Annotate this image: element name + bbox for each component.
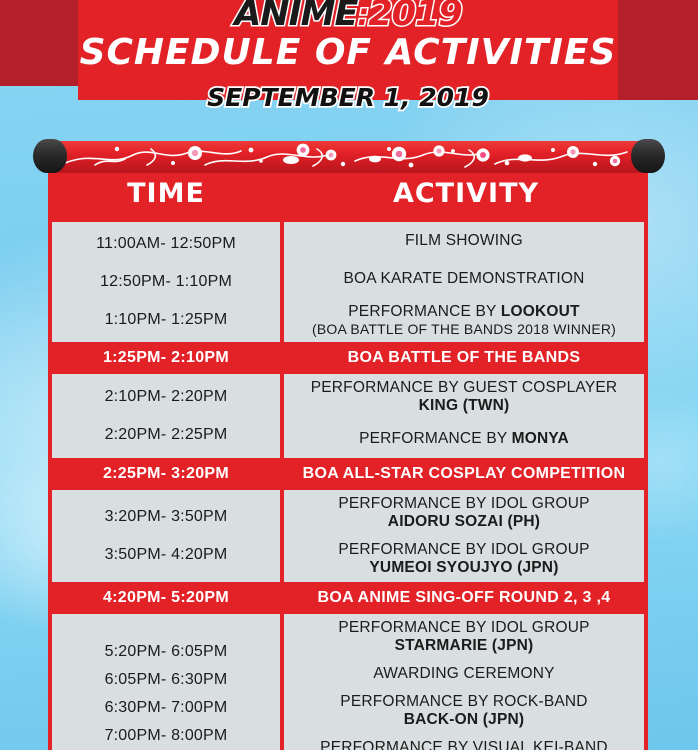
time-cell: 2:10PM- 2:20PM: [52, 378, 280, 416]
activity-performer: STARMARIE (JPN): [395, 637, 534, 654]
activity-performer: YUMEOI SYOUJYO (JPN): [369, 559, 558, 576]
activity-cell: FILM SHOWING: [284, 222, 644, 260]
time-cell: 3:50PM- 4:20PM: [52, 536, 280, 574]
activity-cell: PERFORMANCE BY IDOL GROUPAIDORU SOZAI (P…: [284, 490, 644, 536]
logo-anime-text: ANIME: [234, 0, 357, 34]
activity-cell: BOA ALL-STAR COSPLAY COMPETITION: [284, 462, 644, 486]
time-cell: 2:20PM- 2:25PM: [52, 416, 280, 454]
schedule-group-highlight: 2:25PM- 3:20PMBOA ALL-STAR COSPLAY COMPE…: [52, 462, 644, 486]
scroll-rod-decoration: [33, 139, 665, 173]
header-right-block: [610, 0, 698, 100]
logo-year-text: 2019: [368, 0, 461, 34]
time-cell: 7:00PM- 8:00PM: [52, 722, 280, 750]
activity-column: PERFORMANCE BY IDOL GROUPSTARMARIE (JPN)…: [284, 614, 644, 750]
time-column: 5:20PM- 6:05PM6:05PM- 6:30PM6:30PM- 7:00…: [52, 614, 280, 750]
activity-performer: LOOKOUT: [501, 303, 580, 320]
activity-cell: AWARDING CEREMONY: [284, 660, 644, 688]
activity-cell: BOA KARATE DEMONSTRATION: [284, 260, 644, 298]
time-cell: 4:20PM- 5:20PM: [52, 586, 280, 610]
logo-separator-icon: :: [357, 0, 368, 33]
time-cell: 5:20PM- 6:05PM: [52, 638, 280, 666]
column-header-time: TIME: [48, 178, 284, 209]
activity-text: BOA KARATE DEMONSTRATION: [343, 270, 584, 288]
time-column: 2:25PM- 3:20PM: [52, 462, 280, 486]
activity-text: PERFORMANCE BY ROCK-BANDBACK-ON (JPN): [340, 693, 587, 729]
activity-cell: PERFORMANCE BY IDOL GROUPSTARMARIE (JPN): [284, 614, 644, 660]
activity-column: PERFORMANCE BY GUEST COSPLAYERKING (TWN)…: [284, 374, 644, 458]
activity-performer: KING (TWN): [419, 397, 510, 414]
schedule-group-highlight: 4:20PM- 5:20PMBOA ANIME SING-OFF ROUND 2…: [52, 586, 644, 610]
schedule-group: 2:10PM- 2:20PM2:20PM- 2:25PMPERFORMANCE …: [52, 374, 644, 458]
schedule-group: 5:20PM- 6:05PM6:05PM- 6:30PM6:30PM- 7:00…: [52, 614, 644, 750]
activity-text: BOA BATTLE OF THE BANDS: [348, 349, 581, 367]
activity-text: PERFORMANCE BY GUEST COSPLAYERKING (TWN): [311, 379, 618, 415]
table-header-row: TIME ACTIVITY: [48, 165, 648, 222]
scroll-rod-cap-left: [33, 139, 67, 173]
activity-text: BOA ALL-STAR COSPLAY COMPETITION: [303, 465, 626, 483]
activity-text: PERFORMANCE BY IDOL GROUPSTARMARIE (JPN): [338, 619, 589, 655]
activity-column: BOA ALL-STAR COSPLAY COMPETITION: [284, 462, 644, 486]
time-column: 11:00AM- 12:50PM12:50PM- 1:10PM1:10PM- 1…: [52, 222, 280, 342]
time-cell: 1:10PM- 1:25PM: [52, 301, 280, 339]
time-column: 1:25PM- 2:10PM: [52, 346, 280, 370]
activity-cell: PERFORMANCE BY MONYA: [284, 420, 644, 458]
cherry-blossom-icon: [55, 141, 643, 173]
activity-cell: BOA BATTLE OF THE BANDS: [284, 346, 644, 370]
time-cell: 2:25PM- 3:20PM: [52, 462, 280, 486]
activity-text: PERFORMANCE BY LOOKOUT: [348, 303, 579, 321]
table-body: 11:00AM- 12:50PM12:50PM- 1:10PM1:10PM- 1…: [48, 222, 648, 750]
activity-column: BOA BATTLE OF THE BANDS: [284, 346, 644, 370]
scroll-rod-cap-right: [631, 139, 665, 173]
activity-cell: PERFORMANCE BY ROCK-BANDBACK-ON (JPN): [284, 688, 644, 734]
schedule-table: TIME ACTIVITY 11:00AM- 12:50PM12:50PM- 1…: [48, 165, 648, 750]
activity-performer: BACK-ON (JPN): [404, 711, 525, 728]
schedule-group-highlight: 1:25PM- 2:10PMBOA BATTLE OF THE BANDS: [52, 346, 644, 370]
time-column: 2:10PM- 2:20PM2:20PM- 2:25PM: [52, 374, 280, 458]
schedule-group: 11:00AM- 12:50PM12:50PM- 1:10PM1:10PM- 1…: [52, 222, 644, 342]
activity-cell: PERFORMANCE BY IDOL GROUPYUMEOI SYOUJYO …: [284, 536, 644, 582]
poster-header: ANIME:2019 SCHEDULE OF ACTIVITIES SEPTEM…: [0, 0, 698, 122]
activity-cell: PERFORMANCE BY GUEST COSPLAYERKING (TWN): [284, 374, 644, 420]
time-cell: 3:20PM- 3:50PM: [52, 498, 280, 536]
schedule-group: 3:20PM- 3:50PM3:50PM- 4:20PMPERFORMANCE …: [52, 490, 644, 582]
activity-cell: BOA ANIME SING-OFF ROUND 2, 3 ,4: [284, 586, 644, 610]
time-cell: 1:25PM- 2:10PM: [52, 346, 280, 370]
activity-performer: AIDORU SOZAI (PH): [388, 513, 540, 530]
activity-column: PERFORMANCE BY IDOL GROUPAIDORU SOZAI (P…: [284, 490, 644, 582]
activity-text: PERFORMANCE BY IDOL GROUPYUMEOI SYOUJYO …: [338, 541, 589, 577]
time-cell: 11:00AM- 12:50PM: [52, 225, 280, 263]
time-cell: 6:30PM- 7:00PM: [52, 694, 280, 722]
activity-cell: PERFORMANCE BY VISUAL KEI-BANDUCHUSENTAI…: [284, 734, 644, 750]
activity-column: FILM SHOWINGBOA KARATE DEMONSTRATIONPERF…: [284, 222, 644, 342]
column-header-activity: ACTIVITY: [284, 178, 648, 209]
activity-column: BOA ANIME SING-OFF ROUND 2, 3 ,4: [284, 586, 644, 610]
time-cell: 6:05PM- 6:30PM: [52, 666, 280, 694]
time-column: 3:20PM- 3:50PM3:50PM- 4:20PM: [52, 490, 280, 582]
activity-performer: MONYA: [512, 430, 569, 447]
time-cell: 12:50PM- 1:10PM: [52, 263, 280, 301]
activity-subtext: (BOA BATTLE OF THE BANDS 2018 WINNER): [312, 321, 616, 337]
page-title: SCHEDULE OF ACTIVITIES: [78, 33, 618, 73]
scroll-rod-body: [55, 141, 643, 173]
activity-text: AWARDING CEREMONY: [373, 665, 554, 683]
activity-text: PERFORMANCE BY MONYA: [359, 430, 569, 448]
activity-cell: PERFORMANCE BY LOOKOUT(BOA BATTLE OF THE…: [284, 298, 644, 342]
event-logo: ANIME:2019: [78, 0, 618, 36]
activity-text: FILM SHOWING: [405, 232, 523, 250]
event-date: SEPTEMBER 1, 2019: [78, 84, 618, 112]
activity-text: PERFORMANCE BY VISUAL KEI-BANDUCHUSENTAI…: [320, 739, 608, 750]
activity-text: BOA ANIME SING-OFF ROUND 2, 3 ,4: [318, 589, 611, 607]
activity-text: PERFORMANCE BY IDOL GROUPAIDORU SOZAI (P…: [338, 495, 589, 531]
time-column: 4:20PM- 5:20PM: [52, 586, 280, 610]
